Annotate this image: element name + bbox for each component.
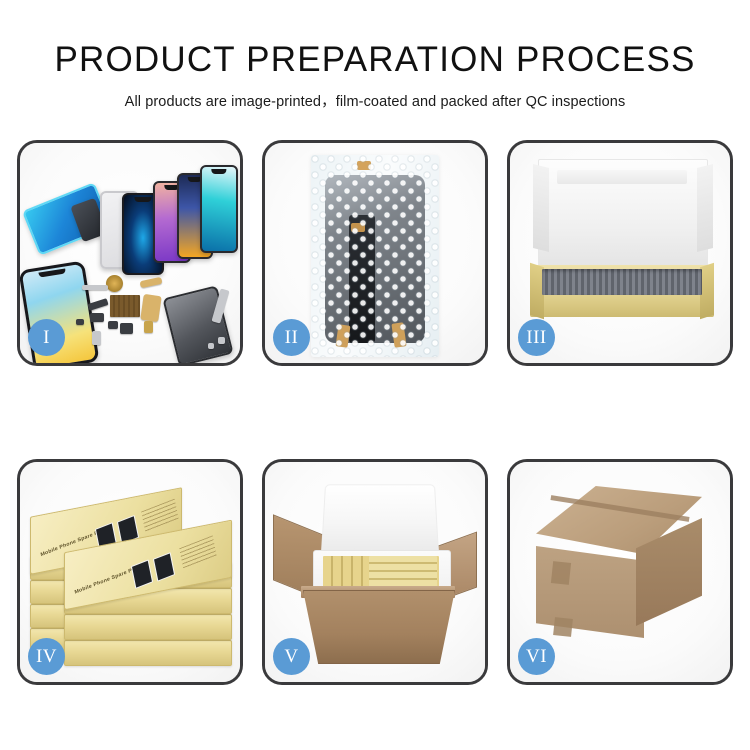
phone-teal-display-icon	[200, 165, 238, 253]
page-title: PRODUCT PREPARATION PROCESS	[0, 40, 750, 80]
logic-board-icon	[110, 295, 140, 317]
flex-cable-icon	[140, 294, 161, 322]
screw-icon	[208, 343, 214, 349]
step-badge-5: V	[273, 638, 310, 675]
taptic-engine-icon	[120, 323, 133, 334]
notch-icon	[211, 169, 226, 174]
bubble-wrapped-contents	[542, 269, 702, 295]
step-badge-1: I	[28, 319, 65, 356]
lid-left-flap	[533, 164, 549, 252]
bubble-texture-icon	[311, 155, 439, 357]
stacked-box-item	[64, 614, 232, 640]
tray-right-side	[700, 263, 714, 320]
step-badge-4: IV	[28, 638, 65, 675]
lid-right-flap	[697, 164, 713, 252]
speaker-icon	[108, 321, 118, 329]
earpiece-mesh-icon	[82, 285, 108, 290]
flex-cable-icon	[140, 277, 163, 288]
kraft-box-tray	[530, 265, 714, 317]
stacked-box-item	[64, 640, 232, 666]
tape-strip-icon	[551, 561, 571, 585]
lid-top-edge	[557, 170, 687, 184]
notch-icon	[134, 197, 151, 202]
process-step-panel-6[interactable]: VI	[507, 459, 733, 685]
small-screw-part-icon	[92, 331, 101, 345]
step-badge-2: II	[273, 319, 310, 356]
process-step-panel-4[interactable]: Mobile Phone Spare Parts Mobile Phone Sp…	[17, 459, 243, 685]
process-step-panel-1[interactable]: I	[17, 140, 243, 366]
carton-front-face	[536, 546, 644, 638]
connector-icon	[76, 319, 84, 325]
sim-tray-icon	[144, 321, 153, 333]
white-box-lid	[538, 159, 708, 273]
step-badge-3: III	[518, 319, 555, 356]
screw-icon	[218, 337, 225, 344]
vibration-motor-icon	[106, 275, 123, 292]
process-step-grid: I II	[17, 140, 733, 685]
process-step-panel-3[interactable]: III	[507, 140, 733, 366]
tape-strip-icon	[553, 617, 573, 637]
bubble-wrap-bag	[311, 155, 439, 357]
process-step-panel-2[interactable]: II	[262, 140, 488, 366]
step-badge-6: VI	[518, 638, 555, 675]
process-step-panel-5[interactable]: V	[262, 459, 488, 685]
foam-box-lid	[321, 484, 439, 556]
notch-icon	[38, 268, 65, 277]
camera-flex-icon	[87, 298, 108, 311]
page-subtitle: All products are image-printed，film-coat…	[0, 90, 750, 111]
page-header: PRODUCT PREPARATION PROCESS All products…	[0, 0, 750, 111]
carton-body	[303, 590, 455, 664]
camera-module-icon	[90, 313, 104, 322]
